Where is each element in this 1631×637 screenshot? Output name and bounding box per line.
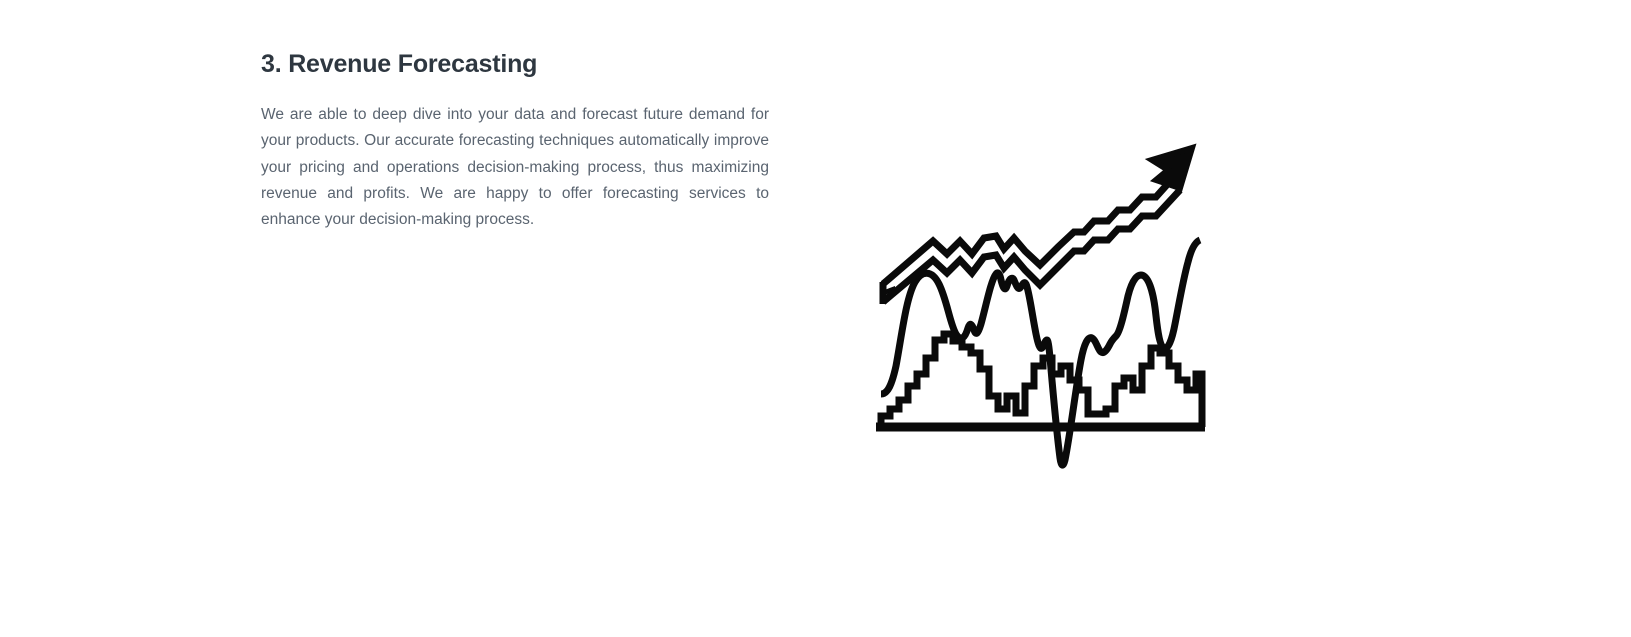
page-title: 3. Revenue Forecasting — [261, 48, 769, 80]
section-body-paragraph: We are able to deep dive into your data … — [261, 102, 769, 233]
revenue-forecasting-text-block: 3. Revenue Forecasting We are able to de… — [261, 48, 769, 233]
page-root: 3. Revenue Forecasting We are able to de… — [0, 0, 1631, 637]
growth-chart-illustration — [862, 128, 1210, 473]
growth-chart-svg — [862, 128, 1210, 473]
